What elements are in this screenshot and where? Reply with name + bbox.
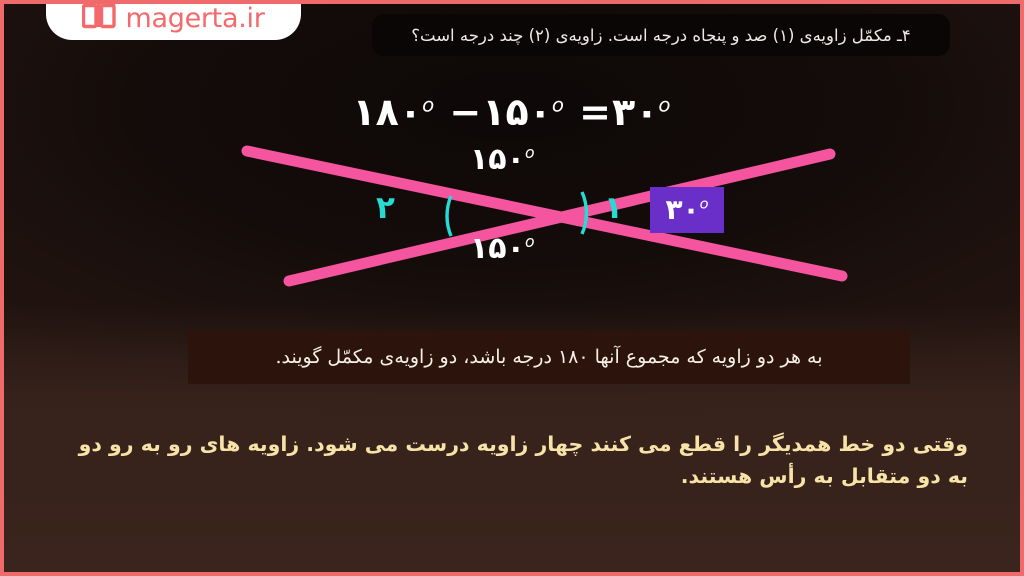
angle-number-one: ۱: [604, 190, 623, 226]
definition-box: به هر دو زاویه که مجموع آنها ۱۸۰ درجه با…: [188, 330, 910, 384]
equation-minuend: ۱۸۰: [352, 90, 422, 134]
degree-symbol-2: o: [552, 93, 565, 116]
slide-canvas: magerta.ir ۴ـ مکمّل زاویه‌ی (۱) صد و پنج…: [0, 0, 1024, 576]
equation-minus-sign: −: [449, 90, 482, 134]
question-bar: ۴ـ مکمّل زاویه‌ی (۱) صد و پنجاه درجه است…: [372, 14, 950, 56]
equation-line: ۱۸۰o −۱۵۰o =۳۰o: [4, 90, 1020, 134]
watermark-logo-inner: magerta.ir: [82, 2, 264, 34]
bottom-note: وقتی دو خط همدیگر را قطع می کنند چهار زا…: [56, 429, 968, 493]
question-text: ۴ـ مکمّل زاویه‌ی (۱) صد و پنجاه درجه است…: [411, 26, 910, 45]
answer-highlight-box: ۳۰o: [650, 187, 724, 233]
degree-symbol-1: o: [422, 93, 435, 116]
angle-label-bottom-value: ۱۵۰: [470, 231, 525, 266]
answer-value: ۳۰o: [665, 196, 708, 224]
degree-symbol-3: o: [658, 93, 671, 116]
equation-subtrahend: ۱۵۰: [482, 90, 552, 134]
watermark-logo-pill: magerta.ir: [46, 0, 301, 40]
angle-label-top: ۱۵۰o: [470, 142, 534, 177]
bottom-note-line-1: وقتی دو خط همدیگر را قطع می کنند چهار زا…: [56, 429, 968, 461]
bottom-note-line-2: به دو متقابل به رأس هستند.: [56, 461, 968, 493]
degree-symbol-answer: o: [700, 196, 709, 213]
definition-text: به هر دو زاویه که مجموع آنها ۱۸۰ درجه با…: [276, 346, 823, 368]
open-book-icon: [82, 2, 116, 34]
watermark-brand-text: magerta.ir: [125, 5, 264, 32]
equation-equals-sign: =: [579, 90, 612, 134]
angle-number-two: ۲: [376, 190, 395, 226]
angle-label-top-value: ۱۵۰: [470, 142, 525, 177]
answer-number: ۳۰: [665, 193, 699, 226]
degree-symbol-bottom: o: [525, 233, 535, 251]
degree-symbol-top: o: [525, 144, 535, 162]
equation-result: ۳۰: [612, 90, 658, 134]
angle-label-bottom: ۱۵۰o: [470, 231, 534, 266]
